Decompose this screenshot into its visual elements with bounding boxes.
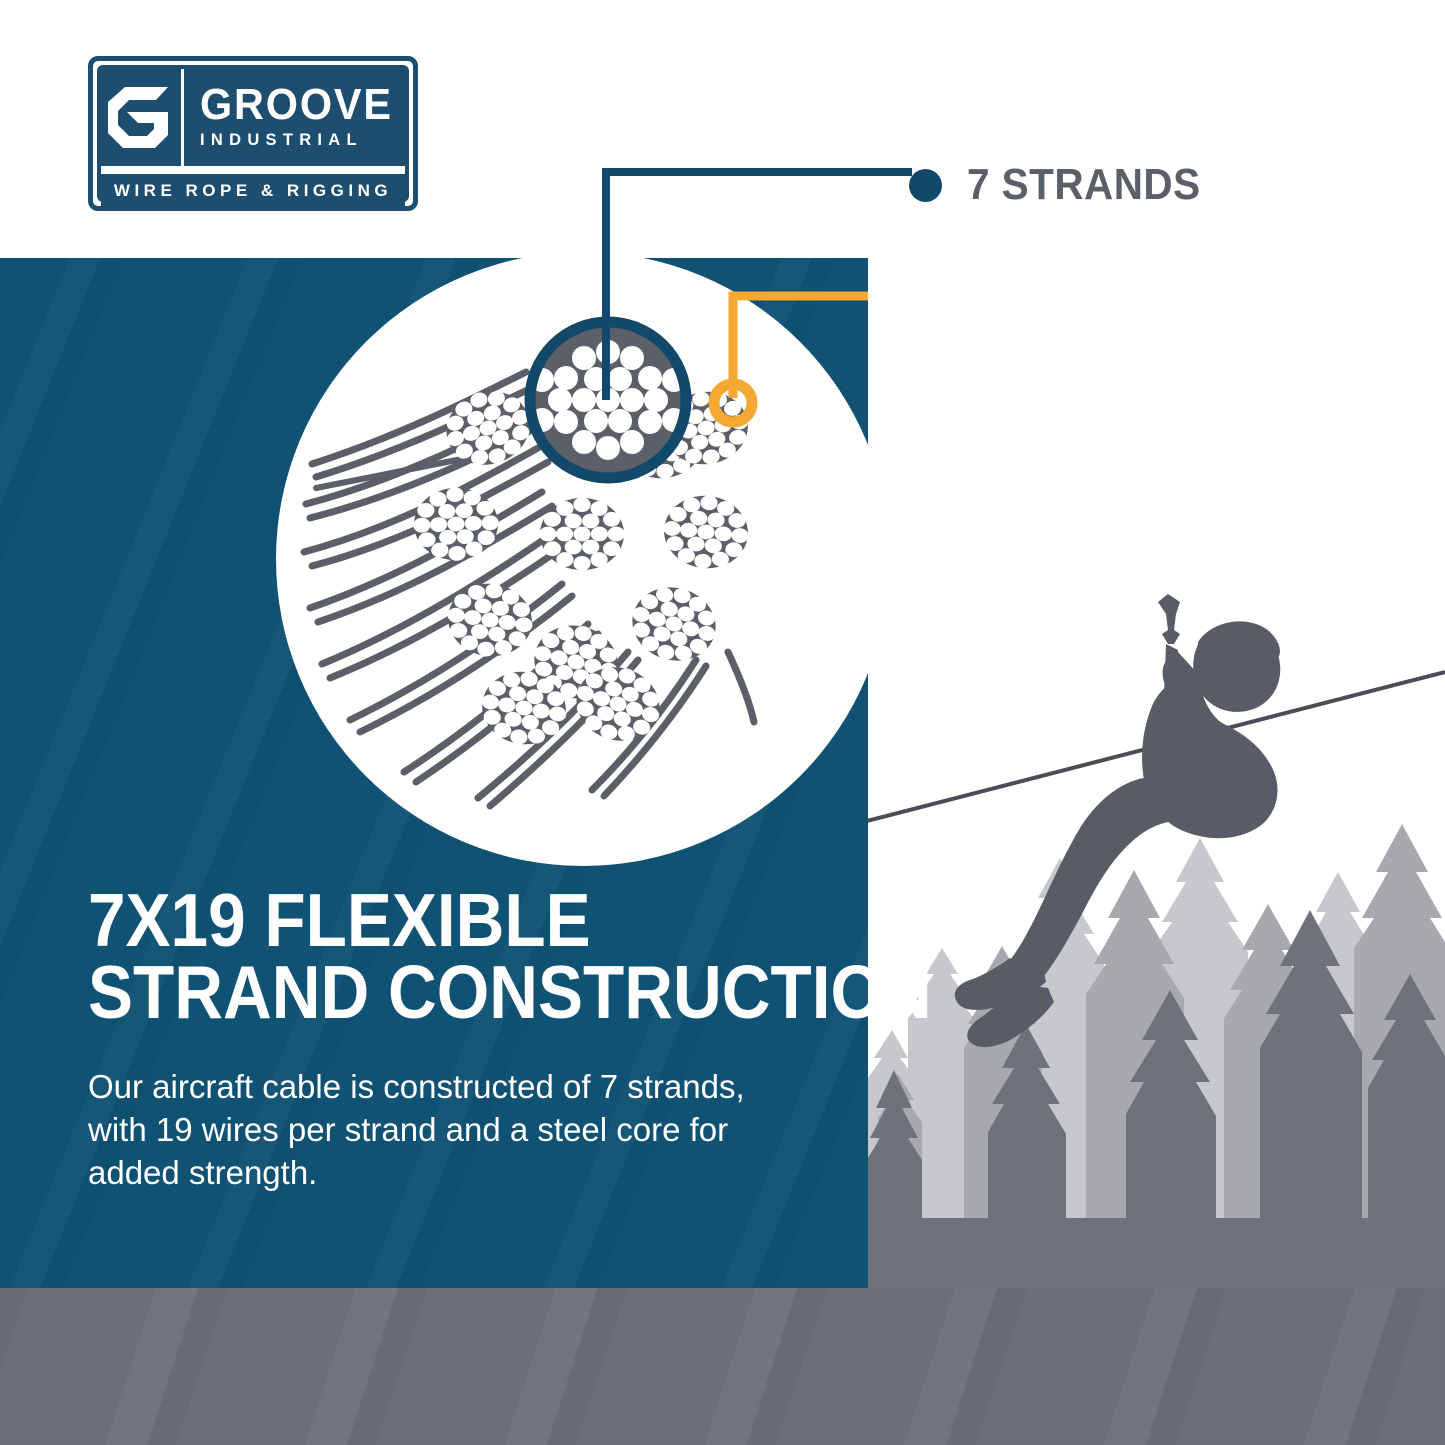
callout-strands[interactable]: 7 STRANDS [909,160,1221,210]
headline-body-text: Our aircraft cable is constructed of 7 s… [88,1066,803,1195]
logo-brand-sub: INDUSTRIAL [200,130,399,150]
logo-top-band: GROOVE INDUSTRIAL [101,69,405,166]
infographic-canvas: GROOVE INDUSTRIAL WIRE ROPE & RIGGING [0,0,1445,1445]
logo-bottom-band: WIRE ROPE & RIGGING [101,174,405,208]
logo-g-mark-cell [101,69,184,166]
callout-dot-strands [909,169,942,202]
zipline-forest-scene [868,258,1445,1288]
headline-line-2: STRAND CONSTRUCTION [88,956,754,1028]
logo-brand-name: GROOVE [200,85,393,125]
logo-tagline: WIRE ROPE & RIGGING [114,181,392,201]
bottom-wave-texture [0,1288,1445,1445]
headline-line-1: 7X19 FLEXIBLE [88,884,754,956]
logo-name-cell: GROOVE INDUSTRIAL [184,69,405,166]
groove-g-icon [108,87,174,149]
highlighted-strand-group [526,318,690,482]
callout-label-strands: 7 STRANDS [967,160,1201,210]
brand-logo[interactable]: GROOVE INDUSTRIAL WIRE ROPE & RIGGING [88,56,418,211]
bottom-grey-strip [0,1288,1445,1445]
headline-block: 7X19 FLEXIBLE STRAND CONSTRUCTION Our ai… [88,884,828,1195]
wire-rope-illustration [276,252,890,866]
